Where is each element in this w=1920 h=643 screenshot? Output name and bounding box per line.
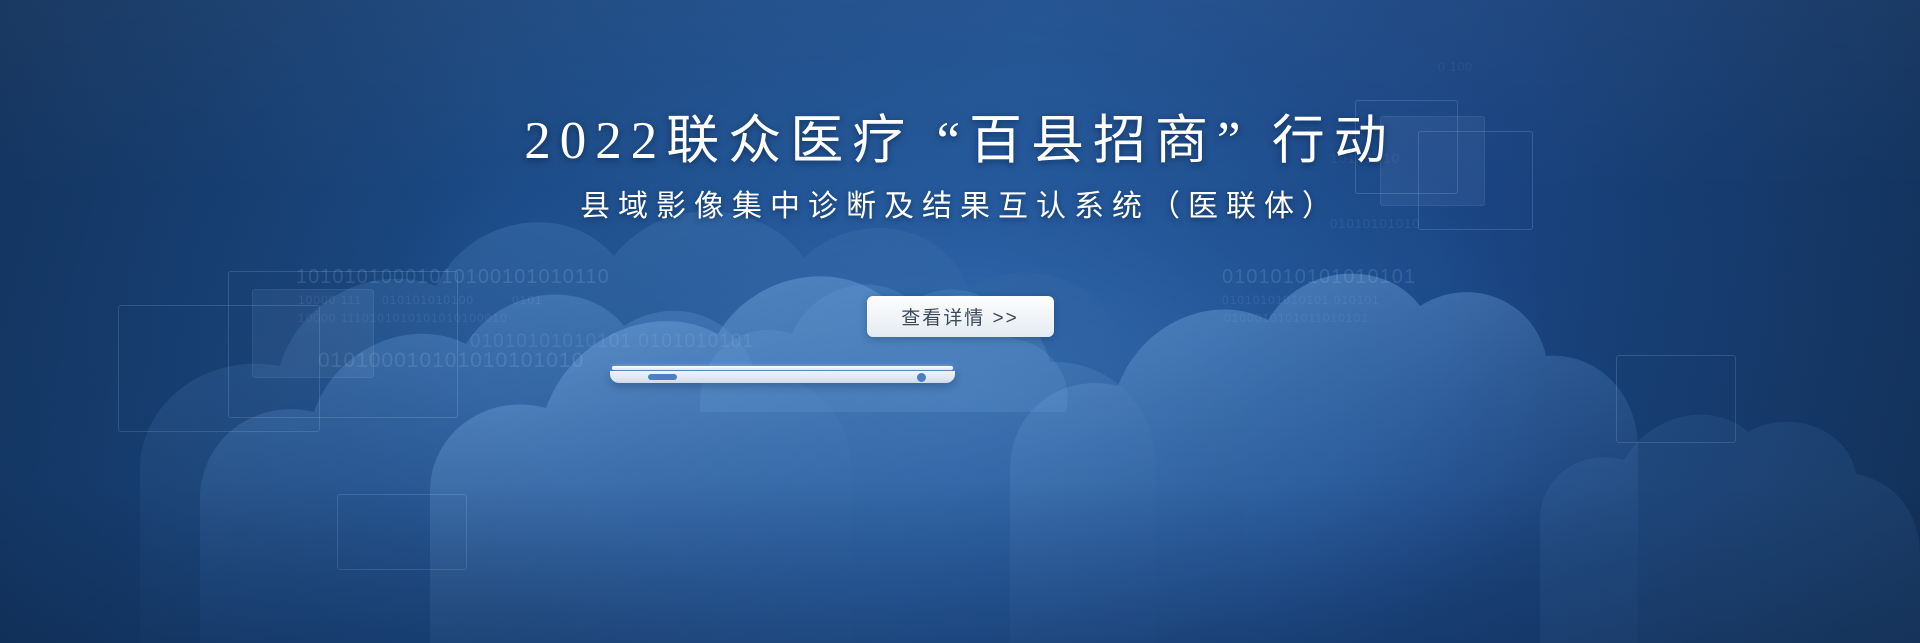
banner-content: 2022联众医疗 “百县招商” 行动 县域影像集中诊断及结果互认系统（医联体） … — [0, 0, 1920, 643]
laptop-screen-edge — [612, 366, 953, 370]
cta-container: 查看详情 >> — [0, 296, 1920, 337]
laptop-indicator-dot — [917, 373, 926, 382]
laptop-indicator-pill — [648, 374, 677, 380]
promo-banner: 10101010001010100101010110 10000 111 010… — [0, 0, 1920, 643]
laptop-device — [610, 366, 955, 386]
banner-subtitle: 县域影像集中诊断及结果互认系统（医联体） — [0, 181, 1920, 225]
banner-title: 2022联众医疗 “百县招商” 行动 — [0, 98, 1920, 174]
view-details-button[interactable]: 查看详情 >> — [867, 296, 1054, 337]
